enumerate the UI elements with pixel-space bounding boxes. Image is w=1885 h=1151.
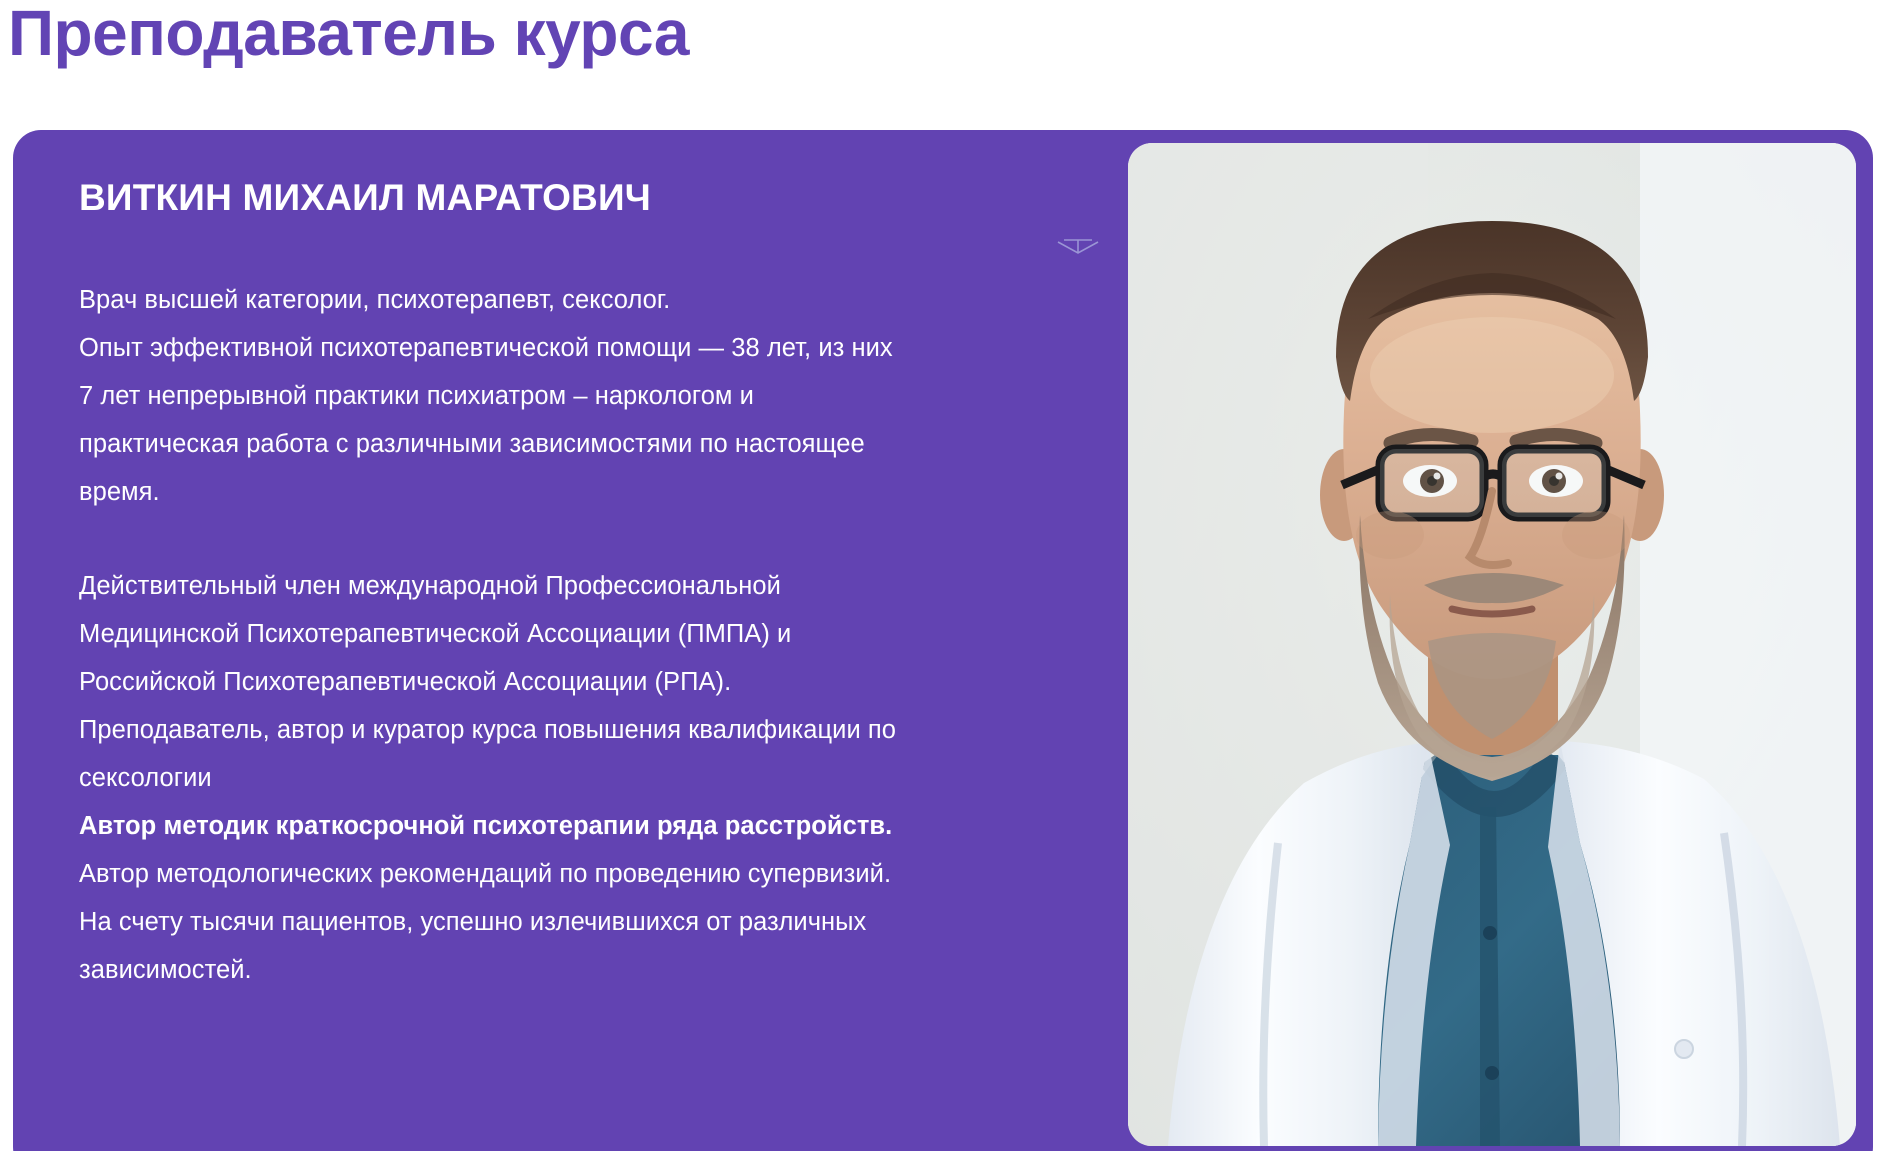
- bio-line-highlight: Автор методик краткосрочной психотерапии…: [79, 802, 1139, 850]
- bio-line: практическая работа с различными зависим…: [79, 420, 1139, 468]
- bio-line: 7 лет непрерывной практики психиатром – …: [79, 372, 1139, 420]
- bio-line: Автор методологических рекомендаций по п…: [79, 850, 1139, 898]
- teacher-bio: Врач высшей категории, психотерапевт, се…: [79, 276, 1139, 994]
- portrait-image: [1128, 143, 1856, 1146]
- teacher-section: Преподаватель курса ВИТКИН МИХАИЛ МАРАТО…: [0, 0, 1885, 1151]
- bio-line: Российской Психотерапевтической Ассоциац…: [79, 658, 1139, 706]
- teacher-portrait: [1128, 143, 1856, 1146]
- page-title: Преподаватель курса: [8, 0, 689, 72]
- bio-line: Опыт эффективной психотерапевтической по…: [79, 324, 1139, 372]
- teacher-info: ВИТКИН МИХАИЛ МАРАТОВИЧ Врач высшей кате…: [79, 175, 1139, 994]
- teacher-name: ВИТКИН МИХАИЛ МАРАТОВИЧ: [79, 175, 1139, 221]
- bio-line: Преподаватель, автор и куратор курса пов…: [79, 706, 1139, 754]
- bio-line: Медицинской Психотерапевтической Ассоциа…: [79, 610, 1139, 658]
- bio-line: Действительный член международной Профес…: [79, 562, 1139, 610]
- bio-line: зависимостей.: [79, 946, 1139, 994]
- teacher-card: ВИТКИН МИХАИЛ МАРАТОВИЧ Врач высшей кате…: [13, 130, 1873, 1151]
- paragraph-spacer: [79, 516, 1139, 562]
- bio-line: время.: [79, 468, 1139, 516]
- bio-line: Врач высшей категории, психотерапевт, се…: [79, 276, 1139, 324]
- bio-line: сексологии: [79, 754, 1139, 802]
- bio-line: На счету тысячи пациентов, успешно излеч…: [79, 898, 1139, 946]
